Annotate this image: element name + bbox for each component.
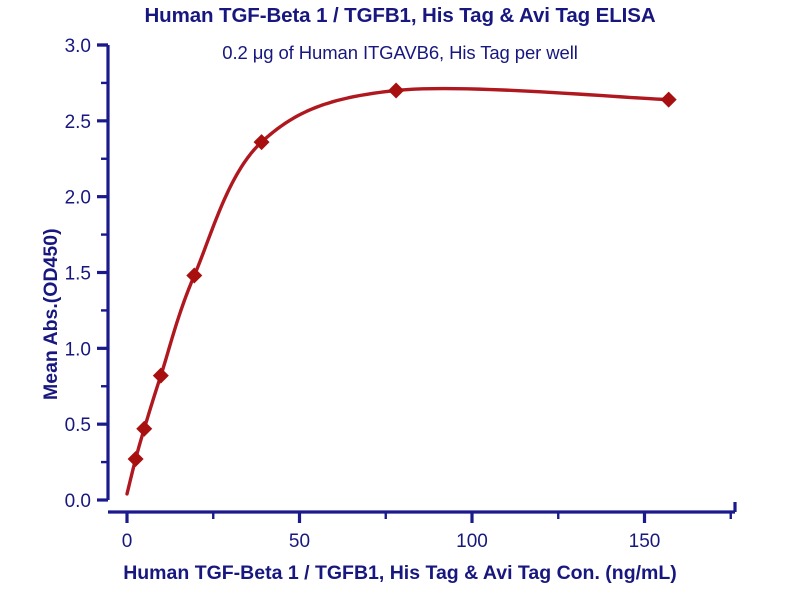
- data-point-marker: [661, 92, 677, 108]
- data-point-marker: [128, 451, 144, 467]
- x-tick-label: 50: [289, 531, 310, 552]
- x-tick-label: 100: [456, 531, 488, 552]
- data-point-marker: [388, 83, 404, 99]
- elisa-binding-curve-figure: Human TGF-Beta 1 / TGFB1, His Tag & Avi …: [0, 0, 800, 600]
- y-tick-label: 0.5: [65, 415, 91, 436]
- y-tick-label: 2.5: [65, 112, 91, 133]
- y-tick-label: 2.0: [65, 188, 91, 209]
- data-markers: [128, 83, 677, 468]
- data-point-marker: [153, 368, 169, 384]
- fitted-curve: [127, 89, 669, 494]
- y-axis: 0.00.51.01.52.02.53.0: [65, 36, 108, 512]
- y-tick-label: 1.0: [65, 339, 91, 360]
- data-point-marker: [136, 421, 152, 437]
- data-point-marker: [186, 268, 202, 284]
- y-tick-label: 3.0: [65, 36, 91, 57]
- y-tick-label: 0.0: [65, 491, 91, 512]
- x-axis: 050100150: [108, 502, 735, 552]
- y-tick-label: 1.5: [65, 264, 91, 285]
- plot-area: 0.00.51.01.52.02.53.0 050100150: [0, 0, 800, 600]
- x-tick-label: 150: [629, 531, 661, 552]
- x-tick-label: 0: [122, 531, 133, 552]
